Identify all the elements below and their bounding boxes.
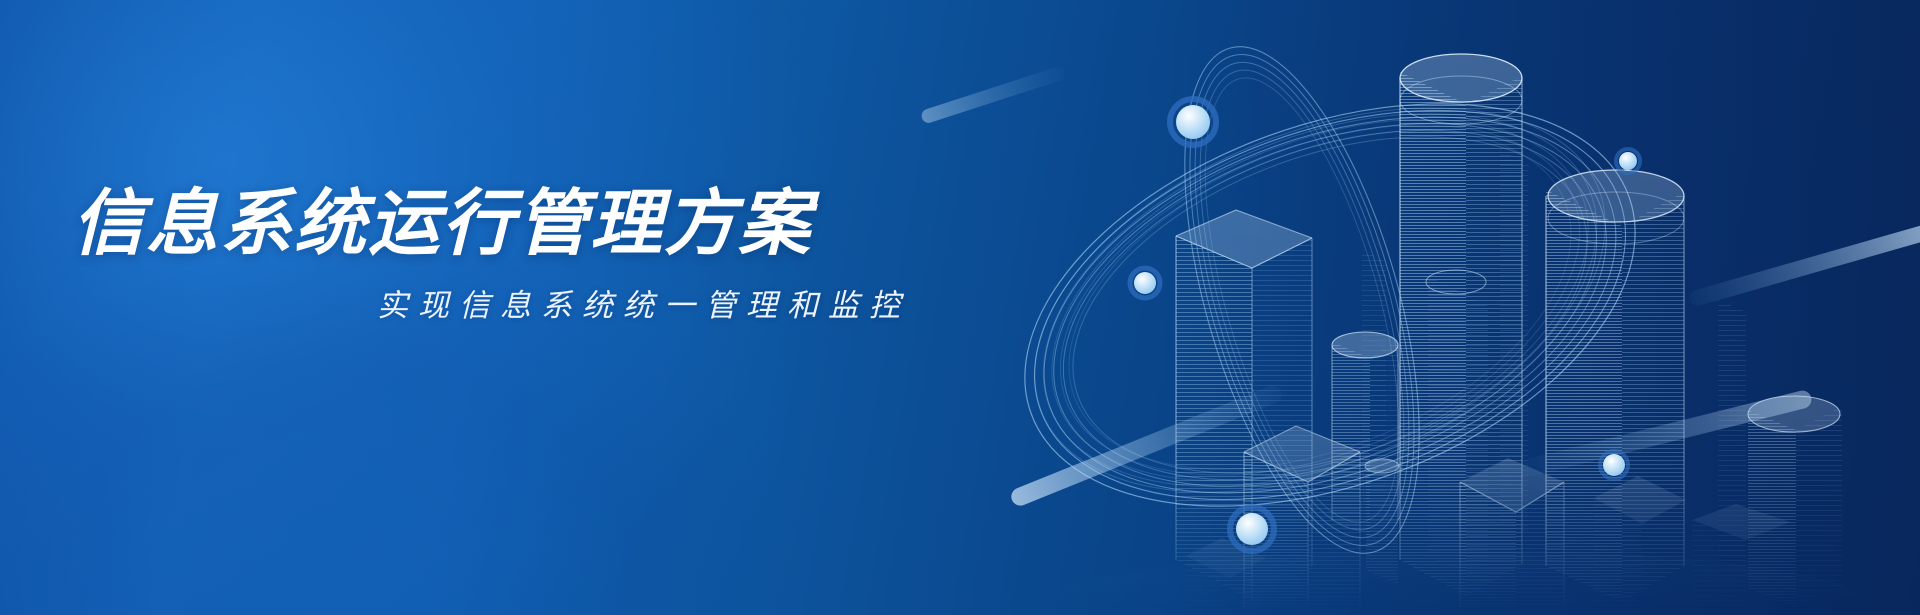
background-vignette-right [1160,0,1920,615]
page-subtitle: 实现信息系统统一管理和监控 [72,280,972,325]
headline-block: 信息系统运行管理方案 实现信息系统统一管理和监控 [72,186,972,325]
banner-root: 信息系统运行管理方案 实现信息系统统一管理和监控 [0,0,1920,615]
page-title: 信息系统运行管理方案 [72,186,972,262]
